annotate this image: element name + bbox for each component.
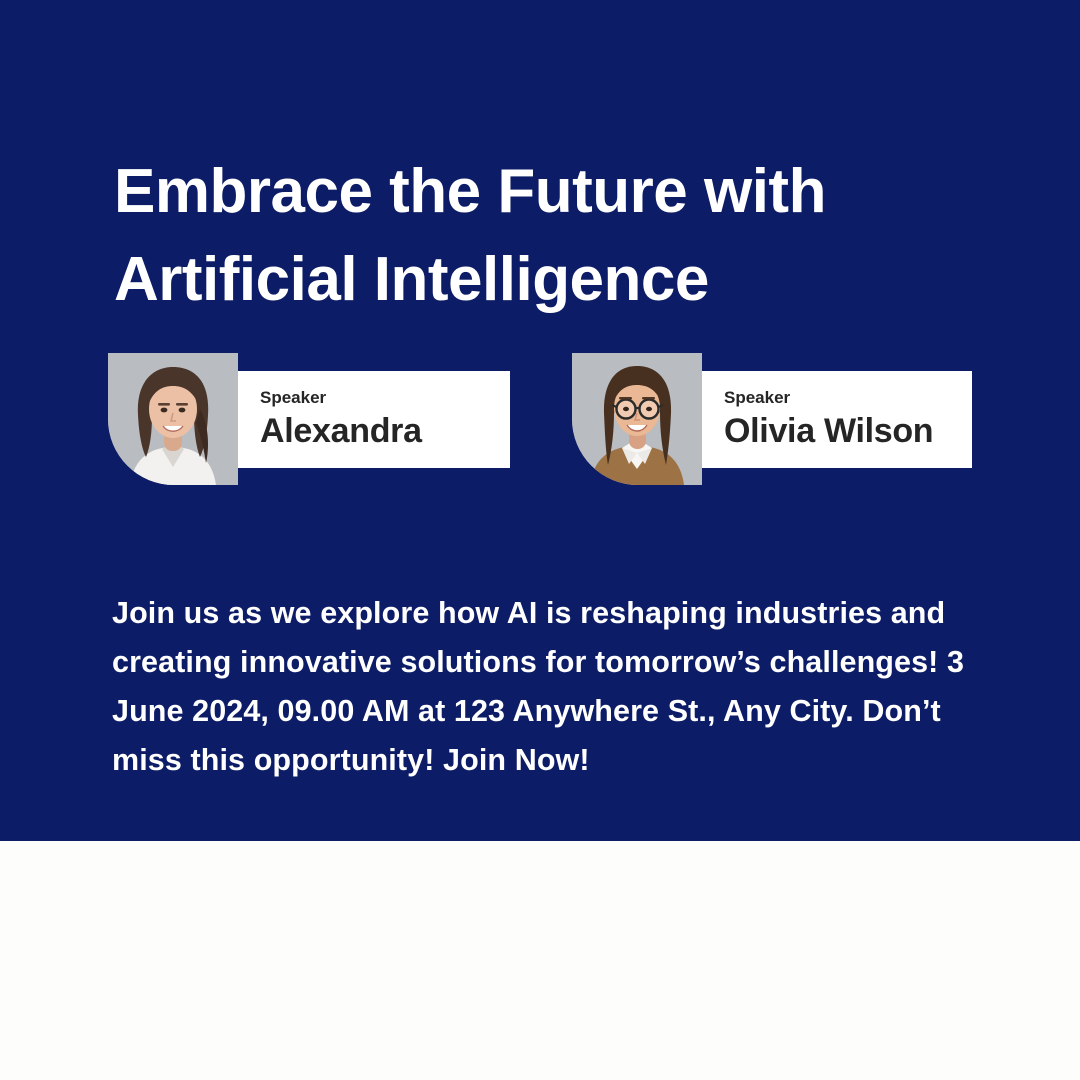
speaker-avatar-alexandra bbox=[108, 353, 238, 485]
event-description: Join us as we explore how AI is reshapin… bbox=[112, 589, 992, 785]
speaker-list: Speaker Alexandra bbox=[108, 353, 988, 487]
page-title: Embrace the Future with Artificial Intel… bbox=[114, 148, 994, 324]
speaker-name-label: Olivia Wilson bbox=[724, 413, 972, 450]
speaker-role-label: Speaker bbox=[260, 389, 510, 408]
speaker-card: Speaker Olivia Wilson bbox=[572, 353, 972, 487]
speaker-role-label: Speaker bbox=[724, 389, 972, 408]
speaker-card: Speaker Alexandra bbox=[108, 353, 510, 487]
speaker-name-plate: Speaker Olivia Wilson bbox=[702, 371, 972, 468]
footer-bar: Capcut Free Registration! Follow our soc… bbox=[0, 841, 1080, 1080]
speaker-name-label: Alexandra bbox=[260, 413, 510, 450]
event-poster: Embrace the Future with Artificial Intel… bbox=[0, 0, 1080, 1080]
speaker-name-plate: Speaker Alexandra bbox=[238, 371, 510, 468]
speaker-avatar-olivia-wilson bbox=[572, 353, 702, 485]
